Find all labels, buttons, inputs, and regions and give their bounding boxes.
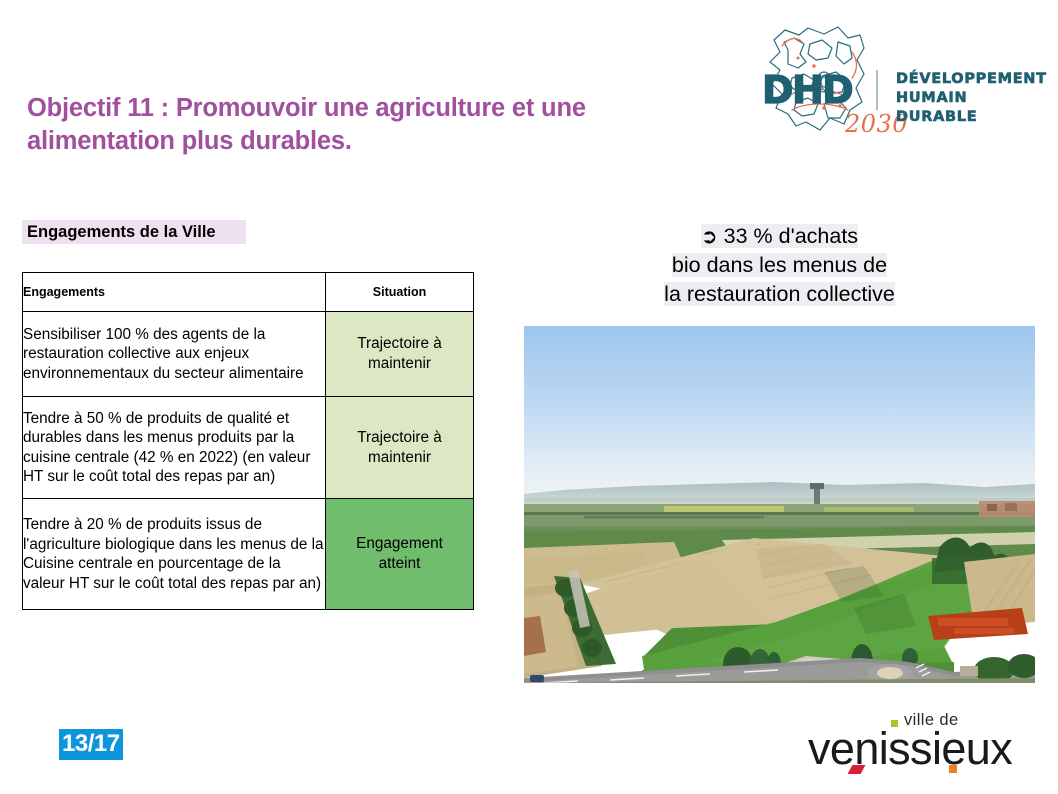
callout-bio-purchases: ➲ 33 % d'achats bio dans les menus de la… (523, 222, 1036, 309)
engagement-text: Tendre à 50 % de produits de qualité et … (23, 397, 326, 499)
dhd-logo: DHD 2030 DÉVELOPPEMENT HUMAIN DURABLE (752, 22, 1052, 142)
engagement-text: Tendre à 20 % de produits issus de l'agr… (23, 499, 326, 610)
page-number-badge: 13/17 (59, 729, 123, 760)
engagements-table: Engagements Situation Sensibiliser 100 %… (22, 272, 474, 610)
dhd-wordmark: DHD (762, 71, 852, 109)
venissieux-logo: ville de venissieux (808, 705, 1038, 777)
orange-square-accent-icon (949, 765, 957, 773)
aerial-farmland-photo (524, 326, 1035, 683)
dhd-divider (876, 70, 878, 110)
table-row: Tendre à 20 % de produits issus de l'agr… (23, 499, 474, 610)
callout-line-1: 33 % d'achats (724, 224, 858, 248)
arrow-circle-icon: ➲ (701, 224, 718, 248)
table-header-row: Engagements Situation (23, 273, 474, 312)
column-header-situation: Situation (326, 273, 474, 312)
status-badge: Trajectoire à maintenir (326, 312, 474, 397)
status-badge: Trajectoire à maintenir (326, 397, 474, 499)
callout-line-2: bio dans les menus de (672, 253, 887, 277)
venissieux-wordmark: venissieux (808, 725, 1012, 773)
engagement-text: Sensibiliser 100 % des agents de la rest… (23, 312, 326, 397)
table-row: Sensibiliser 100 % des agents de la rest… (23, 312, 474, 397)
dhd-tagline: DÉVELOPPEMENT HUMAIN DURABLE (896, 70, 1052, 127)
page-title: Objectif 11 : Promouvoir une agriculture… (27, 92, 687, 158)
callout-line-3: la restauration collective (664, 282, 895, 306)
status-badge: Engagement atteint (326, 499, 474, 610)
table-row: Tendre à 50 % de produits de qualité et … (23, 397, 474, 499)
column-header-engagements: Engagements (23, 273, 326, 312)
section-heading-engagements: Engagements de la Ville (22, 220, 246, 244)
